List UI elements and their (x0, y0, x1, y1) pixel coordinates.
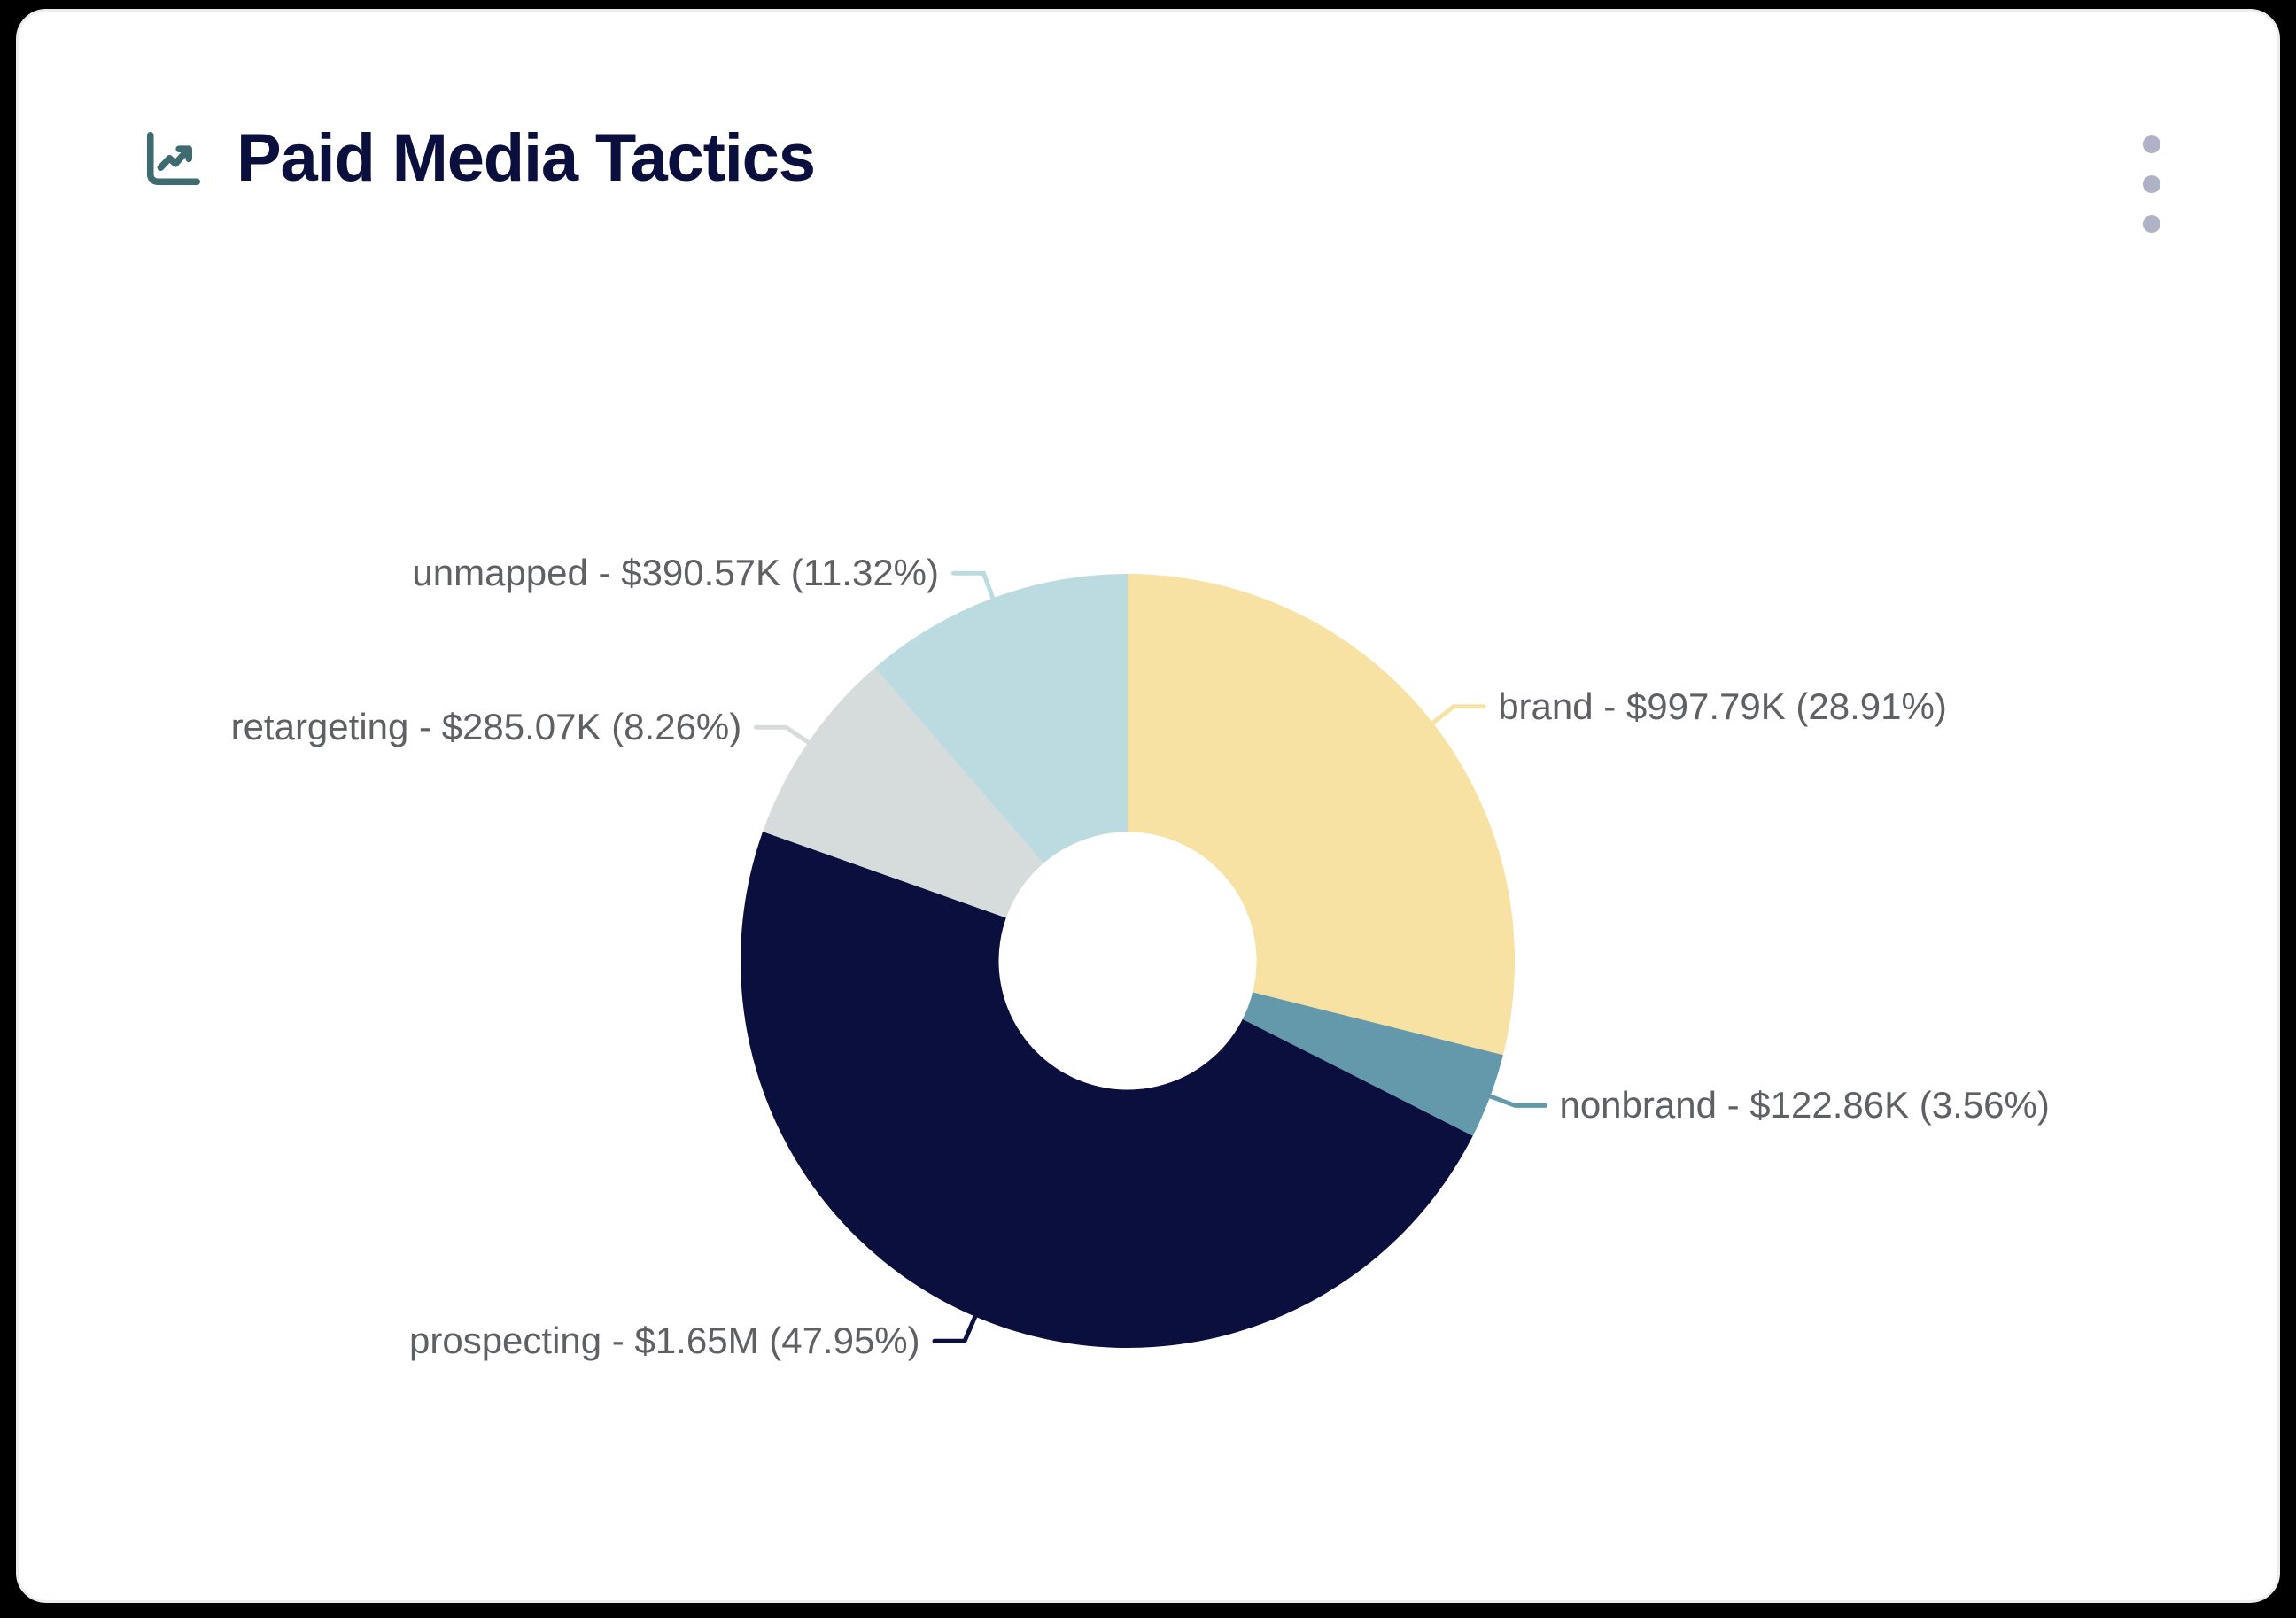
chart-card: Paid Media Tactics brand - $997.79K (28.… (16, 9, 2280, 1603)
donut-chart: brand - $997.79K (28.91%)nonbrand - $122… (19, 12, 2280, 1603)
leader-line-unmapped (953, 573, 995, 603)
leader-line-prospecting (935, 1312, 977, 1341)
slice-label-unmapped: unmapped - $390.57K (11.32%) (412, 554, 939, 592)
slice-label-prospecting: prospecting - $1.65M (47.95%) (409, 1322, 920, 1359)
leader-line-brand (1429, 707, 1484, 726)
slice-label-brand: brand - $997.79K (28.91%) (1498, 688, 1947, 725)
donut-slices (741, 574, 1515, 1348)
leader-line-nonbrand (1485, 1095, 1546, 1106)
slice-label-retargeting: retargeting - $285.07K (8.26%) (231, 708, 742, 746)
donut-chart-svg (19, 12, 2280, 1603)
slice-label-nonbrand: nonbrand - $122.86K (3.56%) (1559, 1087, 2049, 1124)
donut-slice-brand[interactable] (1128, 574, 1515, 1055)
leader-line-retargeting (756, 727, 813, 745)
